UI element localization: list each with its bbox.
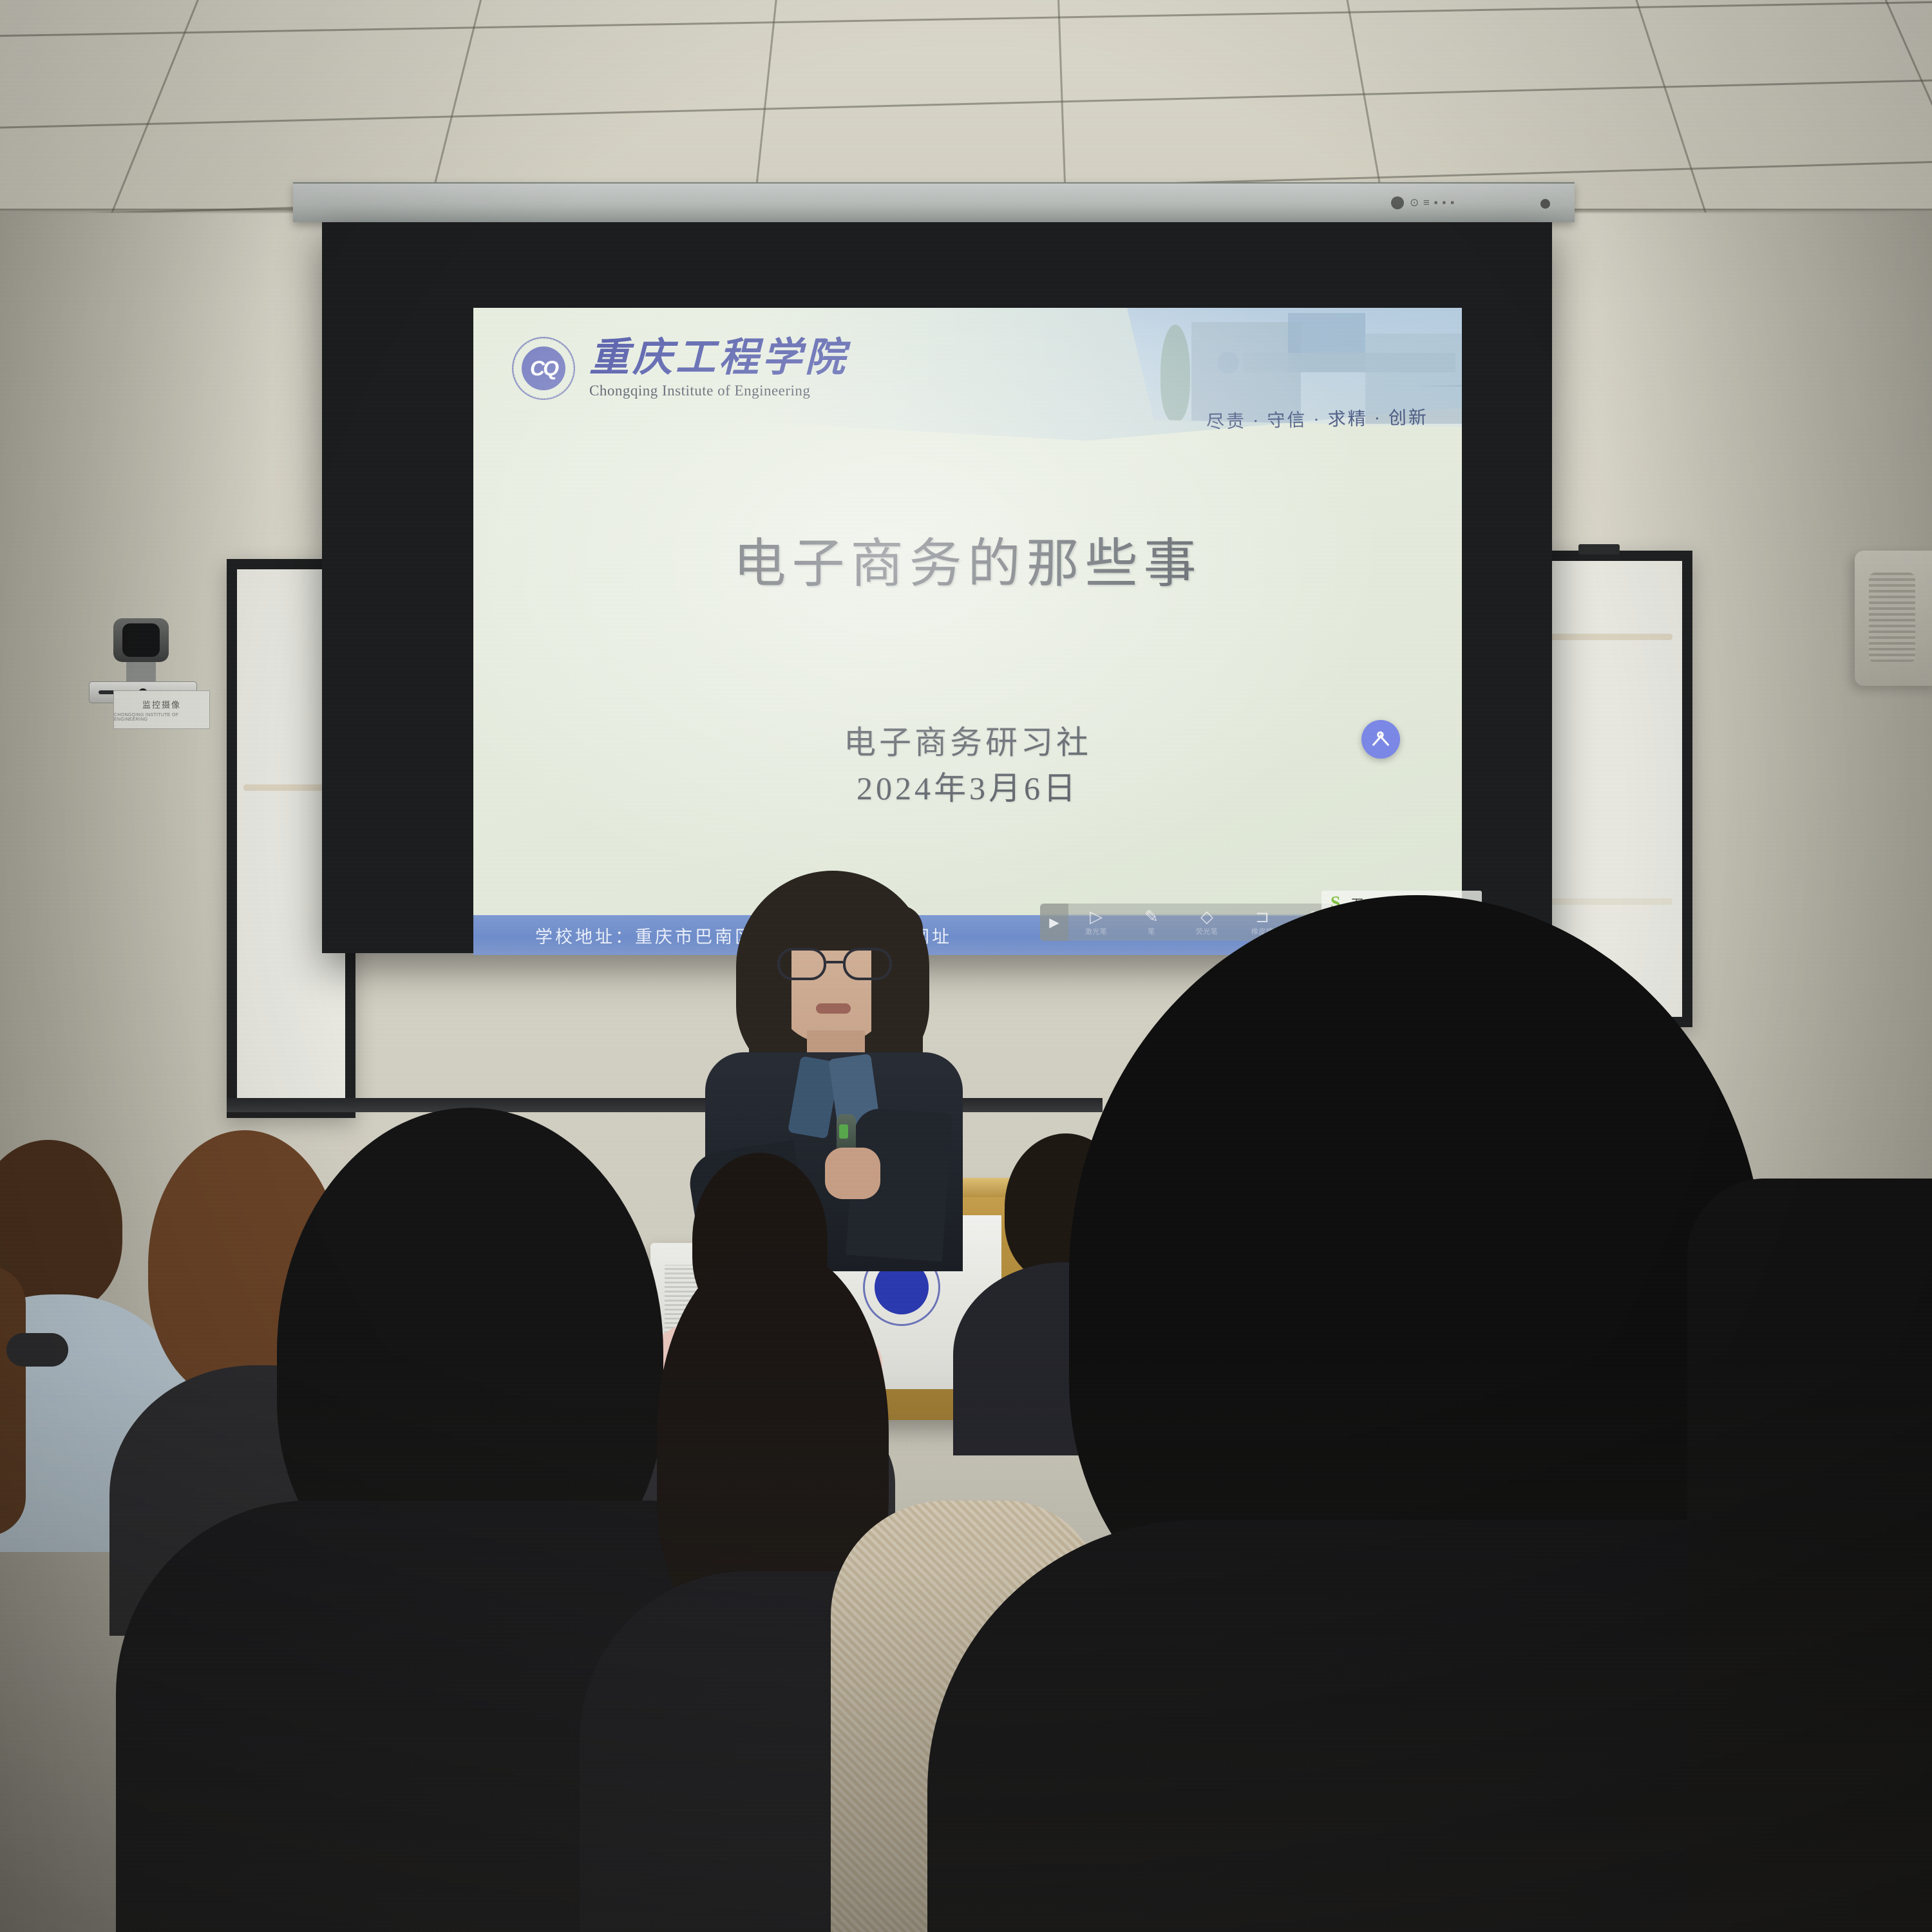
university-logo: CQ 重庆工程学院 Chongqing Institute of Enginee… [512,337,848,400]
university-motto: 尽责 · 守信 · 求精 · 创新 [1206,403,1429,433]
toolbar-pointer-label: 激光笔 [1085,926,1108,936]
university-name-cn: 重庆工程学院 [589,338,848,378]
roller-screw [1540,199,1550,209]
camera-label-plate: 监控摄像 CHONGQING INSTITUTE OF ENGINEERING [113,690,210,729]
university-seal-icon: CQ [512,337,575,400]
pointer-icon: ▷ [1090,908,1103,925]
screen-brand-mark: ⊙ ≡ ▪ ▪ ▪ [1391,194,1507,211]
presenter-hand [825,1148,880,1199]
camera-neck [126,659,156,681]
foreground-shadow [0,1352,1932,1932]
ceiling-tile-grid [0,0,1932,213]
pen-icon: ✎ [1144,908,1159,925]
screen-brand-text: ⊙ ≡ ▪ ▪ ▪ [1410,196,1455,209]
slide-subtitle: 电子商务研习社 [844,724,1092,761]
toolbar-pen-label: 笔 [1148,926,1155,936]
toolbar-pointer-tool[interactable]: ▷ 激光笔 [1068,904,1124,941]
brand-dot-icon [1391,196,1404,209]
eraser-icon: ⊐ [1255,908,1269,925]
camera-label-line2: CHONGQING INSTITUTE OF ENGINEERING [114,713,209,722]
wall-speaker [1855,551,1932,686]
whiteboard-clip [1578,544,1620,554]
toolbar-pen-tool[interactable]: ✎ 笔 [1124,904,1179,941]
toolbar-expand-handle[interactable]: ▶ [1040,904,1068,941]
highlighter-icon: ◇ [1200,908,1213,925]
camera-label-line1: 监控摄像 [142,698,181,710]
board-rail [227,1098,1103,1112]
wps-ai-assistant-button[interactable] [1361,720,1400,759]
lecture-hall-photo: ⊙ ≡ ▪ ▪ ▪ 监控摄像 CHONGQING INSTITUTE OF EN… [0,0,1932,1932]
toolbar-highlighter-tool[interactable]: ◇ 荧光笔 [1179,904,1235,941]
glasses-icon [777,948,892,981]
chevron-right-icon: ▶ [1049,914,1059,931]
slide-date: 2024年3月6日 [473,766,1462,811]
university-name-en: Chongqing Institute of Engineering [589,383,848,399]
projection-screen-roller: ⊙ ≡ ▪ ▪ ▪ [293,182,1575,222]
slide-subtitle-block: 电子商务研习社 2024年3月6日 [473,720,1462,811]
presentation-slide[interactable]: CQ 重庆工程学院 Chongqing Institute of Enginee… [473,308,1462,955]
seal-ring [513,338,574,399]
ai-sparkle-icon [1370,728,1392,750]
camera-lens-icon [113,618,169,662]
toolbar-highlighter-label: 荧光笔 [1196,926,1218,936]
wall-camera: 监控摄像 CHONGQING INSTITUTE OF ENGINEERING [89,618,197,703]
presenter-mouth [816,1003,851,1014]
slide-title: 电子商务的那些事 [473,520,1462,597]
